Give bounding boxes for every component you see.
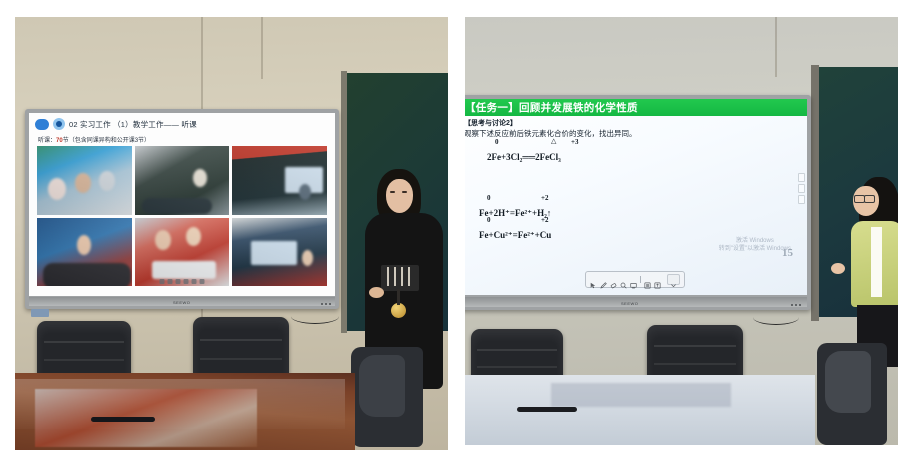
slide-floating-toolbar[interactable]: [585, 271, 685, 288]
side-control-down-icon[interactable]: [798, 195, 805, 204]
collage-cell-5: [135, 218, 230, 287]
equation-2-ox-left: 0: [487, 194, 491, 202]
whiteboard-screen-right[interactable]: 【任务一】回顾并发展铁的化学性质 【思考与讨论2】 观察下述反应前后铁元素化合价…: [465, 99, 807, 295]
watermark-line-1: 激活 Windows: [719, 237, 791, 245]
magnifier-icon[interactable]: [620, 276, 627, 283]
slide-right-line1: 【思考与讨论2】: [465, 118, 517, 128]
whiteboard-indicator-right: [791, 304, 801, 306]
equation-3: 0 +2 Fe+Cu²⁺=Fe²⁺+Cu: [479, 225, 551, 243]
photo-left-internship-presentation: 02 实习工作 （1）教学工作—— 听课 听课：70节（包含同课异构和公开课3节…: [15, 17, 448, 450]
eraser-icon[interactable]: [610, 276, 617, 283]
presenter-papers: [381, 265, 419, 291]
pill-decor-icon: [35, 119, 49, 130]
whiteboard-side-controls[interactable]: [798, 173, 805, 204]
equation-1-ox-right: +3: [571, 138, 579, 146]
screen-icon[interactable]: [630, 276, 637, 283]
ring-decor-icon: [53, 118, 65, 130]
photo-right-chemistry-presentation: 【任务一】回顾并发展铁的化学性质 【思考与讨论2】 观察下述反应前后铁元素化合价…: [465, 17, 898, 445]
list-icon[interactable]: [644, 276, 651, 283]
watermark-line-2: 转到"设置"以激活 Windows: [719, 245, 791, 253]
chair-right-3-cushion: [825, 351, 871, 413]
equation-3-ox-right: +2: [541, 216, 549, 224]
collage-mini-toolbar: [159, 279, 204, 284]
side-control-up-icon[interactable]: [798, 173, 805, 182]
windows-activation-watermark: 激活 Windows 转到"设置"以激活 Windows 15: [719, 237, 791, 253]
glasses-icon-2: [864, 195, 875, 203]
pen-icon[interactable]: [600, 276, 607, 283]
cursor-icon[interactable]: [590, 276, 597, 283]
pen-on-table: [91, 417, 155, 422]
presenter-right-inner-shirt: [871, 227, 882, 297]
slide-left-photo-collage: [37, 146, 327, 286]
collage-cell-6: [232, 218, 327, 287]
whiteboard-brand-right: SEEWO: [621, 301, 638, 306]
equation-1-ox-left: 0: [495, 138, 499, 146]
interactive-whiteboard-left[interactable]: 02 实习工作 （1）教学工作—— 听课 听课：70节（包含同课异构和公开课3节…: [25, 109, 339, 309]
collage-cell-2: [135, 146, 230, 215]
slide-left: 02 实习工作 （1）教学工作—— 听课 听课：70节（包含同课异构和公开课3节…: [29, 113, 335, 296]
chalkboard-frame: [341, 71, 347, 333]
equation-1: 0 △ +3 2Fe+3Cl₂══2FeCl₃: [487, 147, 561, 165]
wall-seam-right: [775, 17, 777, 77]
subtitle-count: 70: [56, 138, 63, 144]
interactive-whiteboard-right[interactable]: 【任务一】回顾并发展铁的化学性质 【思考与讨论2】 观察下述反应前后铁元素化合价…: [465, 95, 811, 310]
whiteboard-label-sticker: [31, 309, 49, 317]
slide-left-title-row: 02 实习工作 （1）教学工作—— 听课: [35, 118, 197, 130]
slide-left-subtitle: 听课：70节（包含同课异构和公开课3节）: [38, 135, 150, 144]
slide-right: 【任务一】回顾并发展铁的化学性质 【思考与讨论2】 观察下述反应前后铁元素化合价…: [465, 99, 807, 295]
chair-3-cushion: [359, 355, 405, 417]
table-reflection-right: [551, 383, 731, 407]
equation-1-text: 2Fe+3Cl₂══2FeCl₃: [487, 152, 561, 162]
collage-cell-3: [232, 146, 327, 215]
table-watermark-reflection: [713, 389, 759, 405]
chalkboard-frame-right: [811, 65, 819, 321]
slide-left-title: 02 实习工作 （1）教学工作—— 听课: [69, 119, 197, 130]
power-cable-right: [753, 310, 799, 325]
collapse-icon[interactable]: [667, 274, 680, 285]
subtitle-prefix: 听课：: [38, 138, 56, 144]
medal-ribbon: [397, 289, 400, 305]
whiteboard-screen-left[interactable]: 02 实习工作 （1）教学工作—— 听课 听课：70节（包含同课异构和公开课3节…: [29, 113, 335, 296]
wall-seam-2: [261, 17, 263, 79]
power-cable: [291, 309, 339, 324]
equation-3-text: Fe+Cu²⁺=Fe²⁺+Cu: [479, 230, 551, 240]
equation-2-ox-right: +2: [541, 194, 549, 202]
presenter-right-hand: [831, 263, 845, 274]
presenter-eye-left: [390, 191, 395, 193]
equation-1-condition: △: [551, 137, 556, 145]
subtitle-rest: 节（包含同课异构和公开课3节）: [63, 138, 150, 144]
slide-right-header-text: 【任务一】回顾并发展铁的化学性质: [465, 100, 638, 115]
presenter-right: [849, 177, 898, 367]
screenshot-root: 02 实习工作 （1）教学工作—— 听课 听课：70节（包含同课异构和公开课3节…: [0, 0, 916, 466]
pen-on-table-right: [517, 407, 577, 412]
collage-cell-4: [37, 218, 132, 287]
toolbar-separator: [640, 276, 641, 283]
side-control-mid-icon[interactable]: [798, 184, 805, 193]
whiteboard-indicator-left: [321, 303, 331, 305]
presenter-face: [386, 179, 413, 213]
presenter-eye-right: [402, 191, 407, 193]
equation-3-ox-left: 0: [487, 216, 491, 224]
presenter-medal: [391, 303, 406, 318]
export-icon[interactable]: [654, 276, 661, 283]
slide-right-header-bar: 【任务一】回顾并发展铁的化学性质: [465, 99, 807, 116]
slide-page-number: 15: [782, 249, 793, 257]
whiteboard-brand-left: SEEWO: [173, 300, 190, 305]
presenter-hand: [369, 287, 384, 298]
collage-cell-1: [37, 146, 132, 215]
